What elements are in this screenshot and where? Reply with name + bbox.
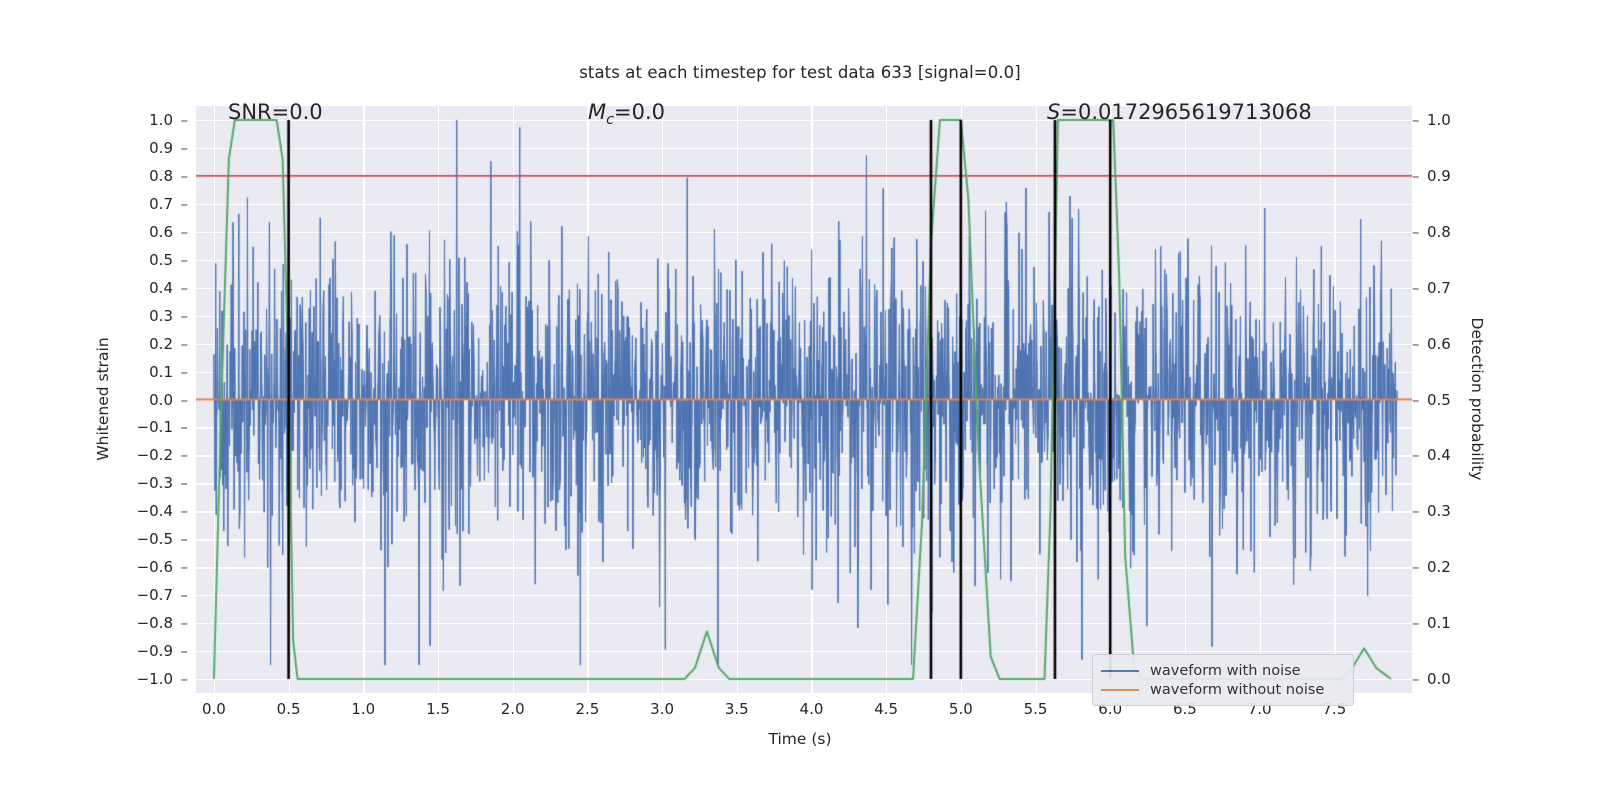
y-tick-left-label: −0.2: [137, 446, 173, 464]
y-tick-left-label: −0.8: [137, 614, 173, 632]
tick-mark: –: [1412, 335, 1422, 353]
y-tick-left-label: 0.8: [149, 167, 173, 185]
y-tick-right: –0.0: [1412, 670, 1482, 688]
annotation-snr: SNR=0.0: [228, 100, 323, 124]
y-tick-left: −0.7–: [128, 586, 188, 604]
y-tick-left: 1.0–: [128, 111, 188, 129]
y-tick-right: –0.5: [1412, 391, 1482, 409]
x-tick: 2.0: [501, 700, 525, 718]
tick-mark: –: [1412, 446, 1422, 464]
waveform-canvas: [196, 106, 1412, 693]
figure: stats at each timestep for test data 633…: [0, 0, 1600, 800]
y-tick-left-label: 0.5: [149, 251, 173, 269]
y-tick-right: –0.8: [1412, 223, 1482, 241]
x-tick: 4.0: [800, 700, 824, 718]
y-tick-right-label: 0.3: [1427, 502, 1451, 520]
annotation-s-value: 0.0172965619713068: [1078, 100, 1312, 124]
y-tick-left: −0.5–: [128, 530, 188, 548]
tick-mark: –: [178, 195, 188, 213]
y-tick-left: −0.3–: [128, 474, 188, 492]
annotation-mc-subscript: c: [606, 112, 614, 128]
y-tick-left-label: 0.6: [149, 223, 173, 241]
y-tick-right-label: 0.5: [1427, 391, 1451, 409]
y-tick-right-label: 0.4: [1427, 446, 1451, 464]
y-tick-left-label: −0.7: [137, 586, 173, 604]
y-tick-left: 0.2–: [128, 335, 188, 353]
annotation-score: S=0.0172965619713068: [1047, 100, 1312, 124]
annotation-snr-text: SNR=0.0: [228, 100, 323, 124]
plot-area: [196, 106, 1412, 693]
y-tick-left: −1.0–: [128, 670, 188, 688]
y-tick-left-label: 1.0: [149, 111, 173, 129]
y-tick-left: 0.6–: [128, 223, 188, 241]
annotation-chirp-mass: Mc=0.0: [588, 100, 665, 128]
y-tick-right: –0.9: [1412, 167, 1482, 185]
y-tick-left: −0.8–: [128, 614, 188, 632]
tick-mark: –: [178, 586, 188, 604]
y-tick-right-label: 1.0: [1427, 111, 1451, 129]
x-tick: 1.0: [351, 700, 375, 718]
annotation-s-symbol: S: [1047, 100, 1060, 124]
tick-mark: –: [1412, 111, 1422, 129]
y-tick-right-label: 0.9: [1427, 167, 1451, 185]
annotation-mc-value: 0.0: [632, 100, 665, 124]
y-tick-right-label: 0.6: [1427, 335, 1451, 353]
tick-mark: –: [1412, 558, 1422, 576]
tick-mark: –: [178, 642, 188, 660]
y-tick-left-label: 0.1: [149, 363, 173, 381]
y-tick-right: –0.6: [1412, 335, 1482, 353]
legend-label-waveform-with-noise: waveform with noise: [1150, 663, 1301, 679]
tick-mark: –: [178, 223, 188, 241]
tick-mark: –: [178, 530, 188, 548]
y-tick-left: 0.3–: [128, 307, 188, 325]
tick-mark: –: [178, 363, 188, 381]
y-tick-right: –0.1: [1412, 614, 1482, 632]
y-tick-right-label: 0.8: [1427, 223, 1451, 241]
legend-swatch-orange: [1101, 689, 1139, 691]
x-tick: 3.0: [650, 700, 674, 718]
legend-item-waveform-with-noise[interactable]: waveform with noise: [1101, 661, 1343, 680]
y-tick-left: 0.8–: [128, 167, 188, 185]
x-tick: 1.5: [426, 700, 450, 718]
y-tick-left-label: −0.5: [137, 530, 173, 548]
tick-mark: –: [1412, 167, 1422, 185]
x-tick: 3.5: [725, 700, 749, 718]
tick-mark: –: [178, 167, 188, 185]
x-tick: 0.5: [277, 700, 301, 718]
x-tick: 0.0: [202, 700, 226, 718]
y-tick-left-label: 0.3: [149, 307, 173, 325]
tick-mark: –: [178, 111, 188, 129]
tick-mark: –: [178, 670, 188, 688]
y-tick-right: –0.7: [1412, 279, 1482, 297]
x-tick: 5.5: [1024, 700, 1048, 718]
y-tick-left: −0.1–: [128, 418, 188, 436]
y-tick-left: −0.2–: [128, 446, 188, 464]
y-tick-right: –0.2: [1412, 558, 1482, 576]
y-tick-left-label: 0.9: [149, 139, 173, 157]
tick-mark: –: [178, 558, 188, 576]
tick-mark: –: [178, 279, 188, 297]
tick-mark: –: [1412, 279, 1422, 297]
legend-item-waveform-without-noise[interactable]: waveform without noise: [1101, 680, 1343, 699]
y-tick-left: −0.4–: [128, 502, 188, 520]
tick-mark: –: [178, 139, 188, 157]
y-tick-left-label: −0.4: [137, 502, 173, 520]
y-tick-left-label: −0.6: [137, 558, 173, 576]
y-tick-right: –1.0: [1412, 111, 1482, 129]
tick-mark: –: [1412, 502, 1422, 520]
y-tick-left: 0.1–: [128, 363, 188, 381]
x-axis-label: Time (s): [0, 730, 1600, 748]
y-axis-label-left: Whitened strain: [94, 337, 112, 460]
y-tick-left-label: −1.0: [137, 670, 173, 688]
y-tick-right-label: 0.1: [1427, 614, 1451, 632]
tick-mark: –: [178, 391, 188, 409]
y-tick-right-label: 0.7: [1427, 279, 1451, 297]
tick-mark: –: [178, 251, 188, 269]
x-tick: 4.5: [874, 700, 898, 718]
y-tick-right: –0.4: [1412, 446, 1482, 464]
y-tick-left: 0.9–: [128, 139, 188, 157]
y-tick-left: 0.0–: [128, 391, 188, 409]
tick-mark: –: [178, 446, 188, 464]
y-tick-left-label: 0.4: [149, 279, 173, 297]
y-tick-right-label: 0.2: [1427, 558, 1451, 576]
tick-mark: –: [1412, 670, 1422, 688]
tick-mark: –: [178, 502, 188, 520]
y-tick-left: 0.7–: [128, 195, 188, 213]
y-tick-left: −0.6–: [128, 558, 188, 576]
tick-mark: –: [178, 307, 188, 325]
y-tick-left: −0.9–: [128, 642, 188, 660]
x-tick: 5.0: [949, 700, 973, 718]
y-tick-left-label: −0.3: [137, 474, 173, 492]
tick-mark: –: [178, 474, 188, 492]
y-tick-left-label: 0.0: [149, 391, 173, 409]
y-tick-left-label: 0.7: [149, 195, 173, 213]
y-tick-right: –0.3: [1412, 502, 1482, 520]
legend-swatch-blue: [1101, 670, 1139, 672]
y-tick-left-label: −0.9: [137, 642, 173, 660]
tick-mark: –: [1412, 391, 1422, 409]
legend[interactable]: waveform with noise waveform without noi…: [1092, 654, 1354, 706]
legend-label-waveform-without-noise: waveform without noise: [1150, 682, 1324, 698]
annotation-mc-symbol: M: [588, 100, 606, 124]
tick-mark: –: [178, 335, 188, 353]
chart-title: stats at each timestep for test data 633…: [0, 63, 1600, 82]
y-tick-left-label: −0.1: [137, 418, 173, 436]
y-tick-left-label: 0.2: [149, 335, 173, 353]
tick-mark: –: [178, 614, 188, 632]
tick-mark: –: [1412, 223, 1422, 241]
x-tick: 2.5: [575, 700, 599, 718]
annotation-s-equals: =: [1060, 100, 1078, 124]
y-tick-left: 0.5–: [128, 251, 188, 269]
tick-mark: –: [1412, 614, 1422, 632]
tick-mark: –: [178, 418, 188, 436]
y-tick-right-label: 0.0: [1427, 670, 1451, 688]
annotation-mc-equals: =: [614, 100, 632, 124]
y-tick-left: 0.4–: [128, 279, 188, 297]
